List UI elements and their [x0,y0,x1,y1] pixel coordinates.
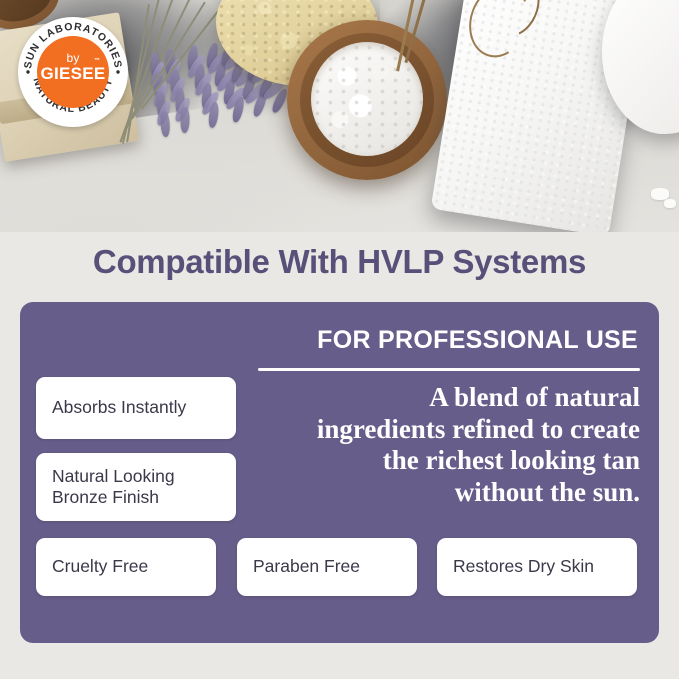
lavender-bud [160,111,170,137]
lavender-bud [180,107,190,133]
feature-label-line2: Bronze Finish [52,487,175,508]
description-line: the richest looking tan [252,445,640,477]
badge-brand-label: GIESEE [37,64,109,84]
badge-dot-left [26,70,29,73]
panel-divider [258,368,640,371]
feature-pill-absorbs-instantly: Absorbs Instantly [36,377,236,439]
description-line: without the sun. [252,477,640,509]
feature-pill-paraben-free: Paraben Free [237,538,417,596]
wooden-bowl [287,20,447,180]
badge-core: by GIESEE ™ [37,36,109,108]
feature-pill-restores-dry-skin: Restores Dry Skin [437,538,637,596]
badge-dot-right [116,70,119,73]
feature-panel: FOR PROFESSIONAL USE A blend of natural … [20,302,659,643]
product-description: A blend of natural ingredients refined t… [252,382,640,508]
feature-pill-natural-looking-bronze-finish: Natural Looking Bronze Finish [36,453,236,521]
description-line: ingredients refined to create [252,414,640,446]
feature-pill-cruelty-free: Cruelty Free [36,538,216,596]
panel-heading: FOR PROFESSIONAL USE [317,326,638,355]
brand-badge: SUN LABORATORIES NATURAL BEAUTY by GIESE… [18,17,128,127]
feature-label: Absorbs Instantly [52,397,186,418]
trademark-icon: ™ [94,58,100,64]
product-infographic: SUN LABORATORIES NATURAL BEAUTY by GIESE… [0,0,679,679]
description-line: A blend of natural [252,382,640,414]
feature-label: Paraben Free [253,556,360,577]
feature-label-group: Natural Looking Bronze Finish [52,466,175,509]
salt-flake-b [664,199,676,208]
feature-label: Restores Dry Skin [453,556,594,577]
page-title: Compatible With HVLP Systems [0,243,679,281]
feature-label-line1: Natural Looking [52,466,175,487]
feature-label: Cruelty Free [52,556,148,577]
